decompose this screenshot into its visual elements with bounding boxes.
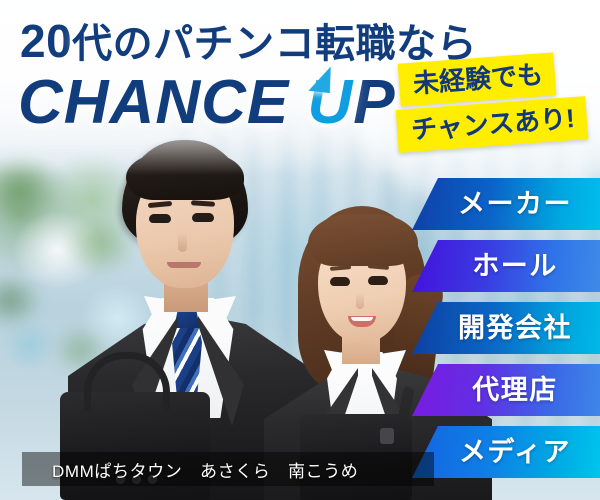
category-label: 開発会社 (458, 315, 572, 342)
headline-number: 20 (20, 15, 72, 67)
category-button-media[interactable]: メディア (412, 426, 600, 478)
category-label: メーカー (458, 191, 572, 218)
male-eye-right (192, 213, 214, 222)
headline-line-1-text: 代のパチンコ転職なら (72, 22, 477, 66)
advertisement-banner: 20代のパチンコ転職なら CHANCE UP 未経験でも チャンスあり! メーカ… (0, 0, 600, 500)
handbag-clasp (380, 428, 394, 444)
female-teeth (351, 317, 373, 321)
caption-text: DMMぱちタウン あさくら 南こうめ (22, 457, 358, 482)
category-label: 代理店 (472, 377, 558, 404)
female-nose (356, 292, 364, 309)
male-mouth (167, 262, 201, 268)
category-button-hall[interactable]: ホール (412, 240, 600, 292)
male-eye-left (149, 214, 171, 223)
category-button-maker[interactable]: メーカー (412, 178, 600, 230)
headline-line-1: 20代のパチンコ転職なら (20, 18, 430, 64)
category-button-agency[interactable]: 代理店 (412, 364, 600, 416)
chance-word: CHANCE (18, 68, 307, 137)
male-nose (178, 232, 187, 252)
female-eye-left (330, 277, 350, 286)
female-eye-right (368, 276, 388, 285)
caption-bar: DMMぱちタウン あさくら 南こうめ (22, 452, 434, 486)
category-label: メディア (459, 439, 571, 466)
category-button-list: メーカー ホール 開発会社 代理店 メディア (412, 178, 600, 488)
up-letter-p: P (353, 68, 395, 137)
category-label: ホール (472, 253, 558, 280)
headline-chance-up: CHANCE UP (18, 72, 396, 134)
category-button-developer[interactable]: 開発会社 (412, 302, 600, 354)
female-bangs (308, 214, 418, 266)
